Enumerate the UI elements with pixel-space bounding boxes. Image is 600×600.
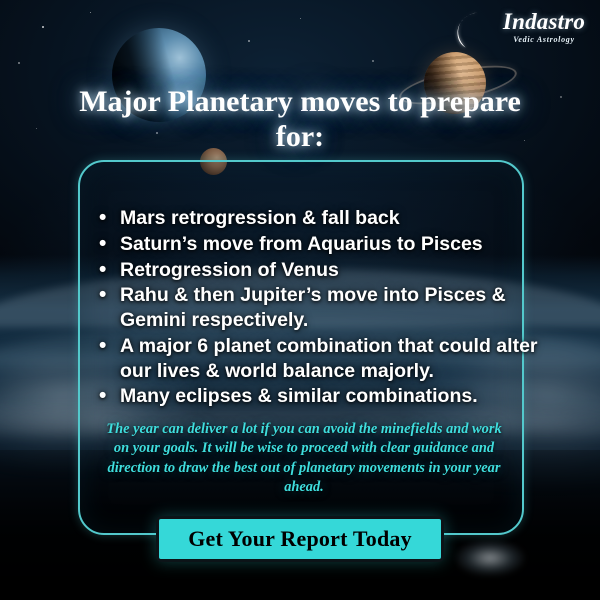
star-icon <box>36 128 37 129</box>
list-item: Rahu & then Jupiter’s move into Pisces &… <box>116 283 546 333</box>
star-icon <box>372 60 374 62</box>
star-icon <box>18 62 20 64</box>
advisory-note: The year can deliver a lot if you can av… <box>98 420 510 498</box>
brand-tagline: Vedic Astrology <box>492 36 596 44</box>
get-report-button[interactable]: Get Your Report Today <box>156 516 444 562</box>
page-title: Major Planetary moves to prepare for: <box>60 84 540 155</box>
star-icon <box>300 18 301 19</box>
list-item: Saturn’s move from Aquarius to Pisces <box>116 232 546 257</box>
poster: Indastro Vedic Astrology Major Planetary… <box>0 0 600 600</box>
list-item: Mars retrogression & fall back <box>116 206 546 231</box>
star-icon <box>560 96 562 98</box>
star-icon <box>248 40 250 42</box>
star-icon <box>90 12 91 13</box>
planetary-moves-list: Mars retrogression & fall back Saturn’s … <box>92 206 546 410</box>
brand-logo-text: Indastro Vedic Astrology <box>492 10 596 44</box>
brand-name: Indastro <box>492 10 596 33</box>
light-sparkle <box>455 540 525 576</box>
star-icon <box>42 26 44 28</box>
list-item: A major 6 planet combination that could … <box>116 334 546 384</box>
list-item: Retrogression of Venus <box>116 258 546 283</box>
brand-logo[interactable]: Indastro Vedic Astrology <box>448 6 594 54</box>
crescent-moon-icon <box>448 8 490 50</box>
list-item: Many eclipses & similar combinations. <box>116 384 546 409</box>
